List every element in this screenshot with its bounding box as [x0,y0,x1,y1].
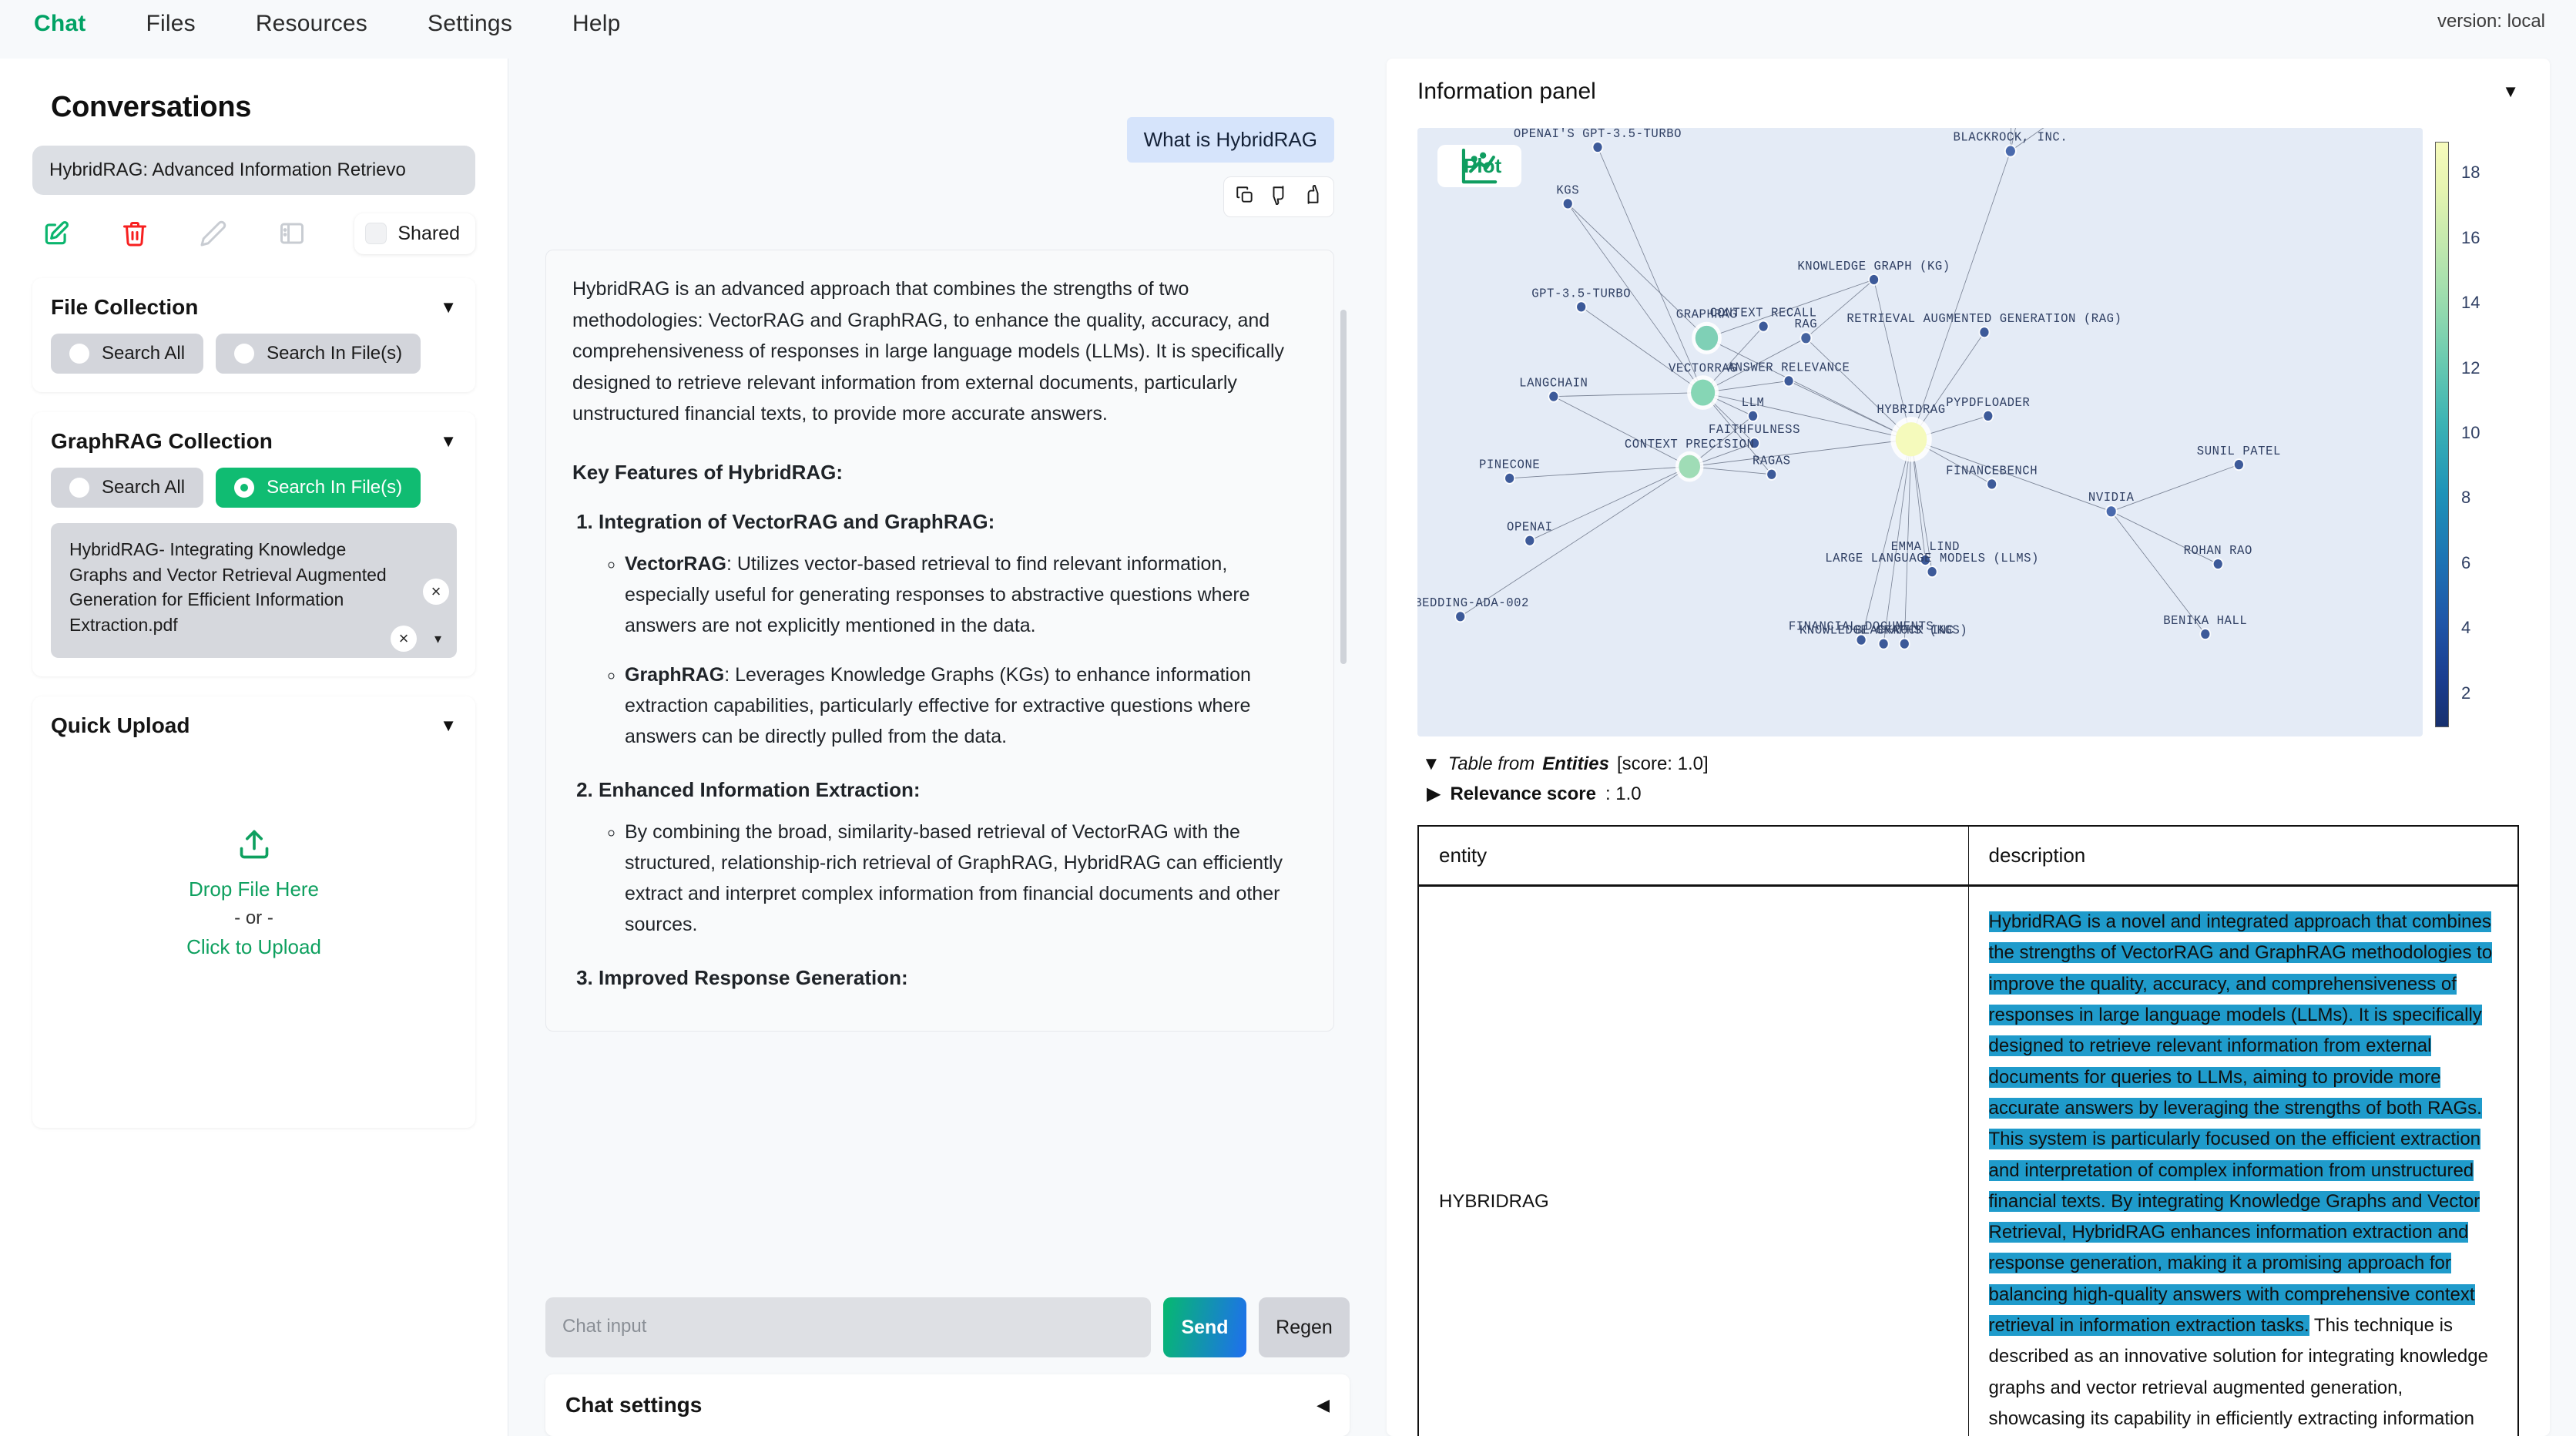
colorbar-gradient [2435,142,2449,727]
relevance-score-label: Relevance score [1450,783,1595,805]
bullet-bold: VectorRAG [625,553,726,575]
graph-node-label: OPENAI'S GPT-3.5-TURBO [1514,128,1682,141]
user-message: What is HybridRAG [1127,117,1334,163]
graph-node[interactable] [1980,327,1988,337]
entities-table: entity description HYBRIDRAG HybridRAG i… [1417,825,2519,1436]
feature-item: Integration of VectorRAG and GraphRAG: V… [599,505,1307,752]
or-label: - or - [32,908,475,929]
drop-file-label: Drop File Here [32,877,475,901]
graph-edge [1530,467,1689,541]
graph-edge [1461,467,1689,617]
graph-edge [1554,397,1689,467]
selected-file-chip[interactable]: HybridRAG- Integrating Knowledge Graphs … [62,534,446,641]
file-collection-header[interactable]: File Collection ▼ [51,295,457,320]
graph-node-label: ROHAN RAO [2184,542,2252,558]
conversation-item[interactable]: HybridRAG: Advanced Information Retrievo [32,146,475,195]
selected-files-area: HybridRAG- Integrating Knowledge Graphs … [51,523,457,658]
graph-node-label: LARGE LANGUAGE MODELS (LLMS) [1825,551,2039,566]
assistant-lead-paragraph: HybridRAG is an advanced approach that c… [572,273,1307,430]
graph-node-label: NVIDIA [2088,490,2135,505]
column-entity: entity [1418,826,1968,886]
graphrag-search-in-files[interactable]: Search In File(s) [216,468,421,508]
chat-settings-panel[interactable]: Chat settings ◀ [545,1374,1350,1436]
colorbar-tick: 12 [2461,358,2480,378]
bullet-bold: GraphRAG [625,664,724,686]
chat-input[interactable] [545,1297,1151,1357]
colorbar: 24681012141618 [2430,128,2519,736]
graph-edge [1806,338,1911,439]
graph-node[interactable] [1577,302,1585,311]
graph-node-label: PINECONE [1479,457,1540,472]
graphrag-collection-header[interactable]: GraphRAG Collection ▼ [51,429,457,454]
graph-node[interactable] [1749,411,1757,421]
plot-area: Plot STEFANO PASQUALIDHAGASH MEHTABHASKA… [1417,128,2519,736]
chevron-down-icon[interactable]: ▼ [440,433,457,450]
radio-dot-icon [69,478,89,498]
colorbar-tick: 10 [2461,423,2480,443]
graph-node[interactable] [2214,559,2222,569]
graph-node-label: LLM [1742,394,1765,410]
thumbs-up-icon[interactable] [1303,185,1323,209]
graph-node-label: LANGCHAIN [1519,375,1588,391]
option-label: Search In File(s) [267,477,402,498]
graph-node-label: BLACKROCK, INC. [1953,129,2068,145]
graph-node-label: KGS [1556,183,1579,198]
click-to-upload-link[interactable]: Click to Upload [32,935,475,959]
cell-description: HybridRAG is a novel and integrated appr… [1968,886,2518,1436]
graph-node[interactable] [1767,470,1776,479]
graph-node-label: -EMBEDDING-ADA-002 [1417,596,1529,611]
graphrag-collection-options: Search All Search In File(s) [51,468,457,508]
graphrag-collection-title: GraphRAG Collection [51,429,273,454]
chevron-right-icon[interactable]: ▶ [1427,783,1441,805]
graph-node-label: BENIKA HALL [2163,612,2247,628]
graph-node[interactable] [1679,455,1700,478]
graph-node[interactable] [1525,536,1534,545]
nav-item-files[interactable]: Files [146,11,195,37]
graph-node[interactable] [1801,333,1810,343]
table-header-row: entity description [1418,826,2518,886]
feature-title: Enhanced Information Extraction: [599,778,921,801]
file-collection-title: File Collection [51,295,198,320]
graph-node[interactable] [1928,567,1937,576]
feature-item: Enhanced Information Extraction: By comb… [599,773,1307,940]
graph-node-label: RAGAS [1753,453,1791,468]
graph-node-label: FAITHFULNESS [1709,422,1800,438]
chat-scroll-area: What is HybridRAG [545,71,1350,1280]
feature-bullets: By combining the broad, similarity-based… [625,817,1307,940]
colorbar-tick: 16 [2461,228,2480,248]
file-collection-options: Search All Search In File(s) [51,334,457,374]
graph-node[interactable] [1593,143,1602,152]
graph-node-label: KNOWLEDGE GRAPH (KG) [1797,258,1950,273]
graph-node-label: FINANCEBENCH [1946,463,2038,478]
graph-node[interactable] [1984,411,1992,421]
table-row: HYBRIDRAG HybridRAG is a novel and integ… [1418,886,2518,1436]
radio-dot-icon [69,344,89,364]
information-panel-title: Information panel [1417,79,1596,105]
graph-node-label: RAG [1794,317,1817,332]
graph-node[interactable] [2006,146,2015,156]
graph-node[interactable] [1880,639,1888,649]
graph-node[interactable] [2201,629,2209,639]
entity-header-block: ▼ Table from Entities [score: 1.0] ▶ Rel… [1422,753,2519,805]
graph-node[interactable] [1987,479,1996,488]
feature-title: Integration of VectorRAG and GraphRAG: [599,510,995,533]
file-collection-card: File Collection ▼ Search All Search In F… [32,278,475,392]
quick-upload-card: Quick Upload ▼ Drop File Here - or - Cli… [32,696,475,1128]
shared-toggle[interactable]: Shared [354,213,475,254]
upload-icon [32,827,475,865]
file-dropzone[interactable]: Drop File Here - or - Click to Upload [32,827,475,959]
bullet-item: VectorRAG: Utilizes vector-based retriev… [625,549,1307,641]
graph-node-label: CONTEXT PRECISION [1625,436,1755,451]
copy-icon[interactable] [1235,185,1255,209]
graph-node[interactable] [1896,422,1927,456]
split-view-icon[interactable] [268,213,316,253]
colorbar-tick: 2 [2461,683,2470,703]
cell-entity: HYBRIDRAG [1418,886,1968,1436]
regen-button[interactable]: Regen [1259,1297,1350,1357]
chevron-left-icon[interactable]: ◀ [1317,1397,1330,1414]
option-label: Search In File(s) [267,343,402,364]
clear-files-icon[interactable]: × [391,626,417,652]
colorbar-tick: 18 [2461,163,2480,183]
graph-node[interactable] [1456,612,1464,621]
graphrag-collection-card: GraphRAG Collection ▼ Search All Search … [32,412,475,676]
quick-upload-header[interactable]: Quick Upload ▼ [51,713,457,738]
graph-node[interactable] [1505,474,1514,483]
radio-dot-icon [234,344,254,364]
relevance-score-value: : 1.0 [1605,783,1642,805]
graph-node-label: RETRIEVAL AUGMENTED GENERATION (RAG) [1846,311,2122,327]
feature-bullets: VectorRAG: Utilizes vector-based retriev… [625,549,1307,752]
information-panel-header[interactable]: Information panel ▼ [1417,79,2519,105]
sidebar: Conversations HybridRAG: Advanced Inform… [0,59,508,1436]
graph-node[interactable] [1900,639,1909,649]
colorbar-tick: 8 [2461,488,2470,508]
entities-label: Entities [1542,753,1609,775]
column-description: description [1968,826,2518,886]
highlighted-description: HybridRAG is a novel and integrated appr… [1989,911,2493,1336]
shared-checkbox[interactable] [365,223,387,244]
information-panel: Information panel ▼ Plot STEFANO [1387,59,2550,1436]
version-label: version: local [2437,11,2545,32]
new-chat-icon[interactable] [32,213,80,253]
colorbar-tick: 4 [2461,618,2470,638]
graph-node-label: HYBRIDRAG [1877,402,1945,418]
remove-file-icon[interactable]: × [423,579,449,605]
chevron-down-icon[interactable]: ▼ [2502,83,2519,100]
chevron-down-icon[interactable]: ▼ [1422,753,1441,775]
chevron-down-icon[interactable]: ▼ [440,299,457,316]
assistant-message: HybridRAG is an advanced approach that c… [545,250,1334,1032]
chevron-down-icon[interactable]: ▾ [434,631,441,647]
colorbar-tick: 6 [2461,553,2470,573]
graph-node-label: PYPDFLOADER [1946,394,2030,410]
option-label: Search All [102,477,185,498]
knowledge-graph-plot[interactable]: Plot STEFANO PASQUALIDHAGASH MEHTABHASKA… [1417,128,2423,736]
table-from-entities[interactable]: ▼ Table from Entities [score: 1.0] [1422,753,2519,775]
graph-edge [1554,393,1703,397]
entities-score: [score: 1.0] [1617,753,1709,775]
delete-icon[interactable] [111,213,159,253]
graph-node[interactable] [2107,506,2116,516]
option-label: Search All [102,343,185,364]
graph-node[interactable] [1696,326,1718,351]
top-navigation: Chat Files Resources Settings Help versi… [0,0,2576,48]
table-from-label: Table from [1448,753,1535,775]
file-collection-search-in-files[interactable]: Search In File(s) [216,334,421,374]
graph-node[interactable] [1549,392,1558,401]
file-collection-search-all[interactable]: Search All [51,334,203,374]
colorbar-tick: 14 [2461,293,2480,313]
main-layout: Conversations HybridRAG: Advanced Inform… [0,48,2576,1436]
feature-title: Improved Response Generation: [599,966,908,989]
bullet-item: GraphRAG: Leverages Knowledge Graphs (KG… [625,659,1307,752]
chat-settings-title: Chat settings [565,1393,702,1418]
graph-node-label: GPT-3.5-TURBO [1531,286,1631,301]
graph-canvas: STEFANO PASQUALIDHAGASH MEHTABHASKARJIT … [1417,128,2423,736]
features-list: Integration of VectorRAG and GraphRAG: V… [599,505,1307,994]
graph-node[interactable] [1784,376,1793,385]
graph-node-label: BLACKROCK INC [1855,622,1954,638]
graph-node-label: OPENAI [1507,519,1553,535]
feature-item: Improved Response Generation: [599,961,1307,994]
chat-composer: Send Regen [545,1297,1350,1357]
thumbs-down-icon[interactable] [1269,185,1289,209]
shared-label: Shared [397,223,460,245]
nav-item-chat[interactable]: Chat [34,11,86,37]
nav-item-settings[interactable]: Settings [428,11,512,37]
table-body: HYBRIDRAG HybridRAG is a novel and integ… [1418,886,2518,1436]
conversation-toolbar: Shared [32,209,475,258]
nav-item-resources[interactable]: Resources [256,11,367,37]
relevance-score-row[interactable]: ▶ Relevance score : 1.0 [1422,783,2519,805]
quick-upload-title: Quick Upload [51,713,190,738]
graph-node-label: ANSWER RELEVANCE [1728,360,1850,375]
radio-dot-icon [234,478,254,498]
message-actions [1223,176,1334,217]
chat-scrollbar[interactable] [1340,310,1347,664]
graph-node[interactable] [1870,275,1878,284]
features-heading: Key Features of HybridRAG: [572,456,1307,488]
graphrag-search-all[interactable]: Search All [51,468,203,508]
sidebar-title: Conversations [51,91,475,124]
table-header: entity description [1418,826,2518,886]
bullet-text: By combining the broad, similarity-based… [625,821,1283,935]
chevron-down-icon[interactable]: ▼ [440,717,457,734]
chat-column: What is HybridRAG [508,48,1387,1436]
graph-node[interactable] [1564,199,1572,208]
plot-button[interactable]: Plot [1437,145,1521,187]
graph-node[interactable] [1691,380,1715,406]
bullet-item: By combining the broad, similarity-based… [625,817,1307,940]
nav-item-help[interactable]: Help [572,11,621,37]
graph-node-label: SUNIL PATEL [2197,443,2281,458]
send-button[interactable]: Send [1163,1297,1246,1357]
graph-node[interactable] [2235,460,2243,469]
rename-icon[interactable] [190,213,237,253]
graph-node[interactable] [1759,322,1768,331]
